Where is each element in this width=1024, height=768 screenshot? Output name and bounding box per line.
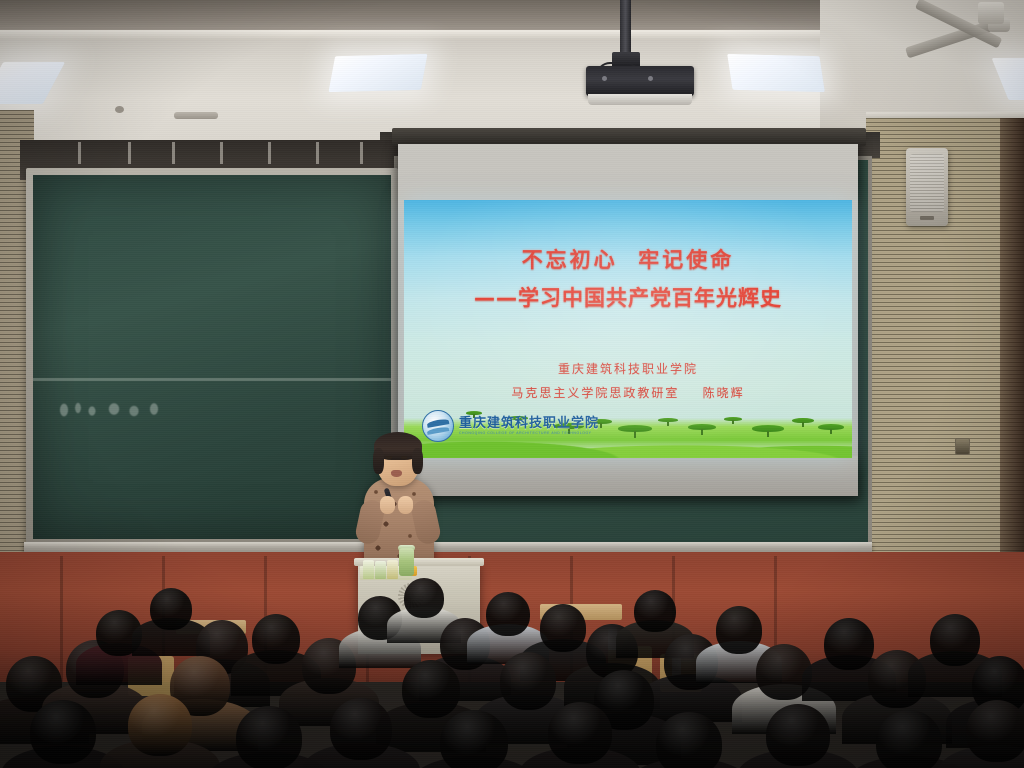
rail-tick (360, 142, 363, 164)
recessed-light-icon (727, 54, 825, 92)
presenter-hair-side (373, 448, 384, 474)
slide-organization: 重庆建筑科技职业学院 (404, 360, 852, 377)
college-logo-english: CHONGQING COLLEGE OF ARCHITECTURE AND TE… (459, 432, 599, 435)
slide-title-line1: 不忘初心 牢记使命 (404, 244, 852, 274)
slide-department-presenter: 马克思主义学院思政教研室 陈晓辉 (404, 384, 852, 401)
screen-bottom-bar (398, 456, 858, 496)
ceiling-vent-icon (174, 112, 218, 119)
rail-tick (172, 142, 175, 164)
presenter-hair-side (412, 448, 423, 474)
slide-title-line2: ——学习中国共产党百年光辉史 (404, 282, 852, 312)
rail-tick (128, 142, 131, 164)
college-logo: 重庆建筑科技职业学院 CHONGQING COLLEGE OF ARCHITEC… (422, 410, 599, 442)
college-logo-mark-icon (422, 410, 454, 442)
presenter-hand (380, 496, 395, 514)
audience-member-head (150, 588, 192, 630)
rail-tick (220, 142, 223, 164)
audience-member-head (128, 694, 192, 756)
audience-member-head (930, 614, 980, 666)
smoke-detector-icon (115, 106, 124, 113)
acacia-tree-icon (618, 425, 652, 438)
presenter-eye (386, 456, 392, 459)
tree-trunk (667, 422, 669, 426)
audience-member-head (540, 604, 586, 652)
audience-member-head (966, 700, 1024, 762)
projector-mount-pole (620, 0, 631, 60)
ceiling-projector-icon (586, 66, 694, 96)
speaker-badge (920, 216, 934, 220)
acacia-tree-icon (688, 424, 716, 435)
presenter-hand (398, 496, 413, 514)
college-logo-text: 重庆建筑科技职业学院 CHONGQING COLLEGE OF ARCHITEC… (459, 417, 599, 435)
projected-slide: 不忘初心 牢记使命 ——学习中国共产党百年光辉史 重庆建筑科技职业学院 马克思主… (404, 200, 852, 458)
tree-trunk (701, 429, 703, 435)
tree-trunk (830, 429, 832, 434)
lecture-hall-photo: 不忘初心 牢记使命 ——学习中国共产党百年光辉史 重庆建筑科技职业学院 马克思主… (0, 0, 1024, 768)
audience-member-head (252, 614, 300, 664)
audience-member-head (236, 706, 302, 768)
projector-lens-housing (588, 94, 692, 105)
rail-tick (316, 142, 319, 164)
wall-outlet-icon (955, 438, 970, 455)
audience-member-head (30, 700, 96, 764)
audience-member-head (876, 710, 942, 768)
audience-member-head (486, 592, 530, 636)
presenter-mouth (391, 470, 402, 477)
tree-trunk (634, 431, 636, 438)
tree-trunk (600, 423, 602, 428)
audience-member-head (634, 590, 676, 632)
audience (0, 560, 1024, 768)
audience-member-head (824, 618, 874, 670)
audience-member-head (656, 712, 722, 768)
tree-trunk (767, 431, 769, 437)
projector-indicator-icon (602, 76, 607, 81)
college-logo-chinese: 重庆建筑科技职业学院 (459, 417, 599, 430)
audience-member-head (766, 704, 830, 766)
presenter-eye (401, 456, 407, 459)
tree-trunk (732, 420, 734, 424)
acacia-tree-icon (658, 418, 678, 426)
ceiling-fan-motor (978, 2, 1004, 24)
audience-member-head (548, 702, 612, 764)
tree-trunk (802, 422, 804, 427)
acacia-tree-icon (818, 424, 844, 434)
acacia-tree-icon (724, 417, 742, 424)
audience-member-head (440, 710, 508, 768)
rail-tick (268, 142, 271, 164)
blackboard-left (33, 175, 391, 539)
audience-member-head (404, 578, 444, 618)
audience-member-head (402, 660, 460, 718)
audience-member-head (716, 606, 762, 654)
audience-member-head (500, 652, 556, 710)
rail-tick (78, 142, 81, 164)
blackboard-seam (33, 378, 391, 381)
recessed-light-icon (328, 54, 427, 92)
audience-member-head (330, 698, 392, 760)
speaker-grill (910, 154, 944, 212)
chalk-writing (56, 398, 176, 424)
acacia-tree-icon (752, 425, 784, 437)
acacia-tree-icon (792, 418, 814, 427)
projector-indicator-icon (648, 76, 653, 81)
